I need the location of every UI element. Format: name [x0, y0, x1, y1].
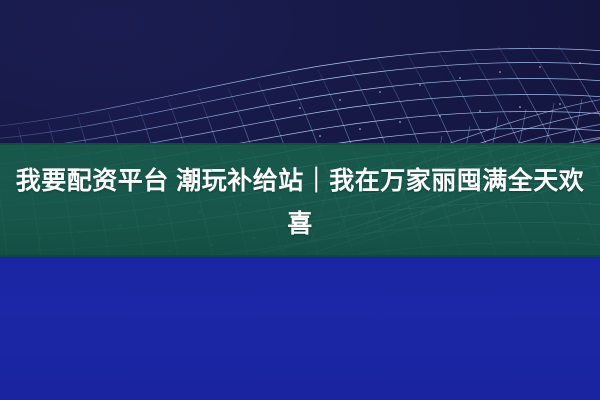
green-band-bottom-edge: [0, 255, 600, 257]
green-band-top-edge: [0, 143, 600, 145]
banner-headline: 我要配资平台 潮玩补给站｜我在万家丽囤满全天欢喜: [0, 160, 600, 246]
banner-image: 我要配资平台 潮玩补给站｜我在万家丽囤满全天欢喜: [0, 0, 600, 400]
background-royal-field: [0, 256, 600, 400]
